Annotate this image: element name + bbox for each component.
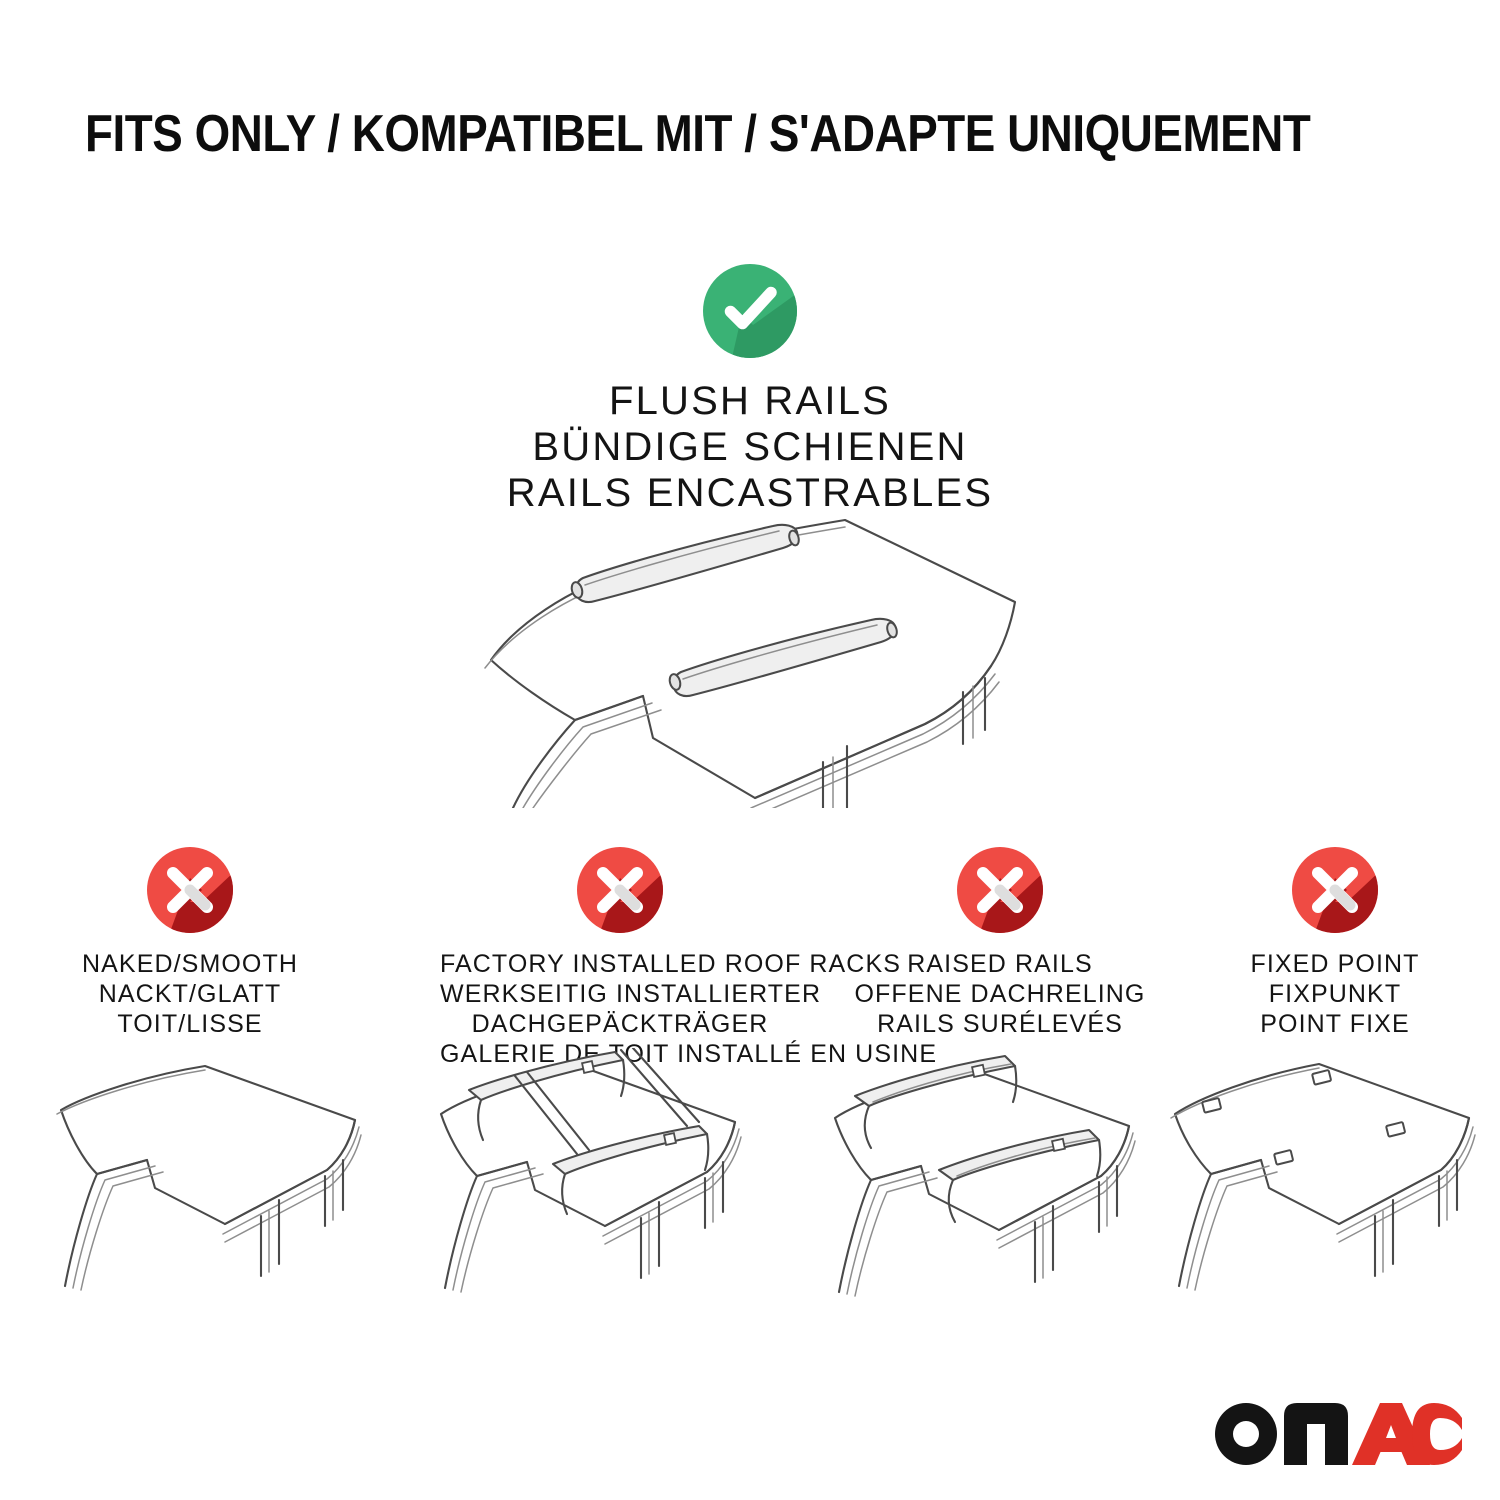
incompatible-label-fr: POINT FIXE	[1155, 1009, 1500, 1039]
incompatible-label-de: FIXPUNKT	[1155, 979, 1500, 1009]
incompatible-label-fr: TOIT/LISSE	[10, 1009, 370, 1039]
incompatible-label-en: RAISED RAILS	[820, 949, 1180, 979]
x-circle-icon	[1290, 845, 1380, 935]
car-roof-factory-installed-roof-racks-illustration	[425, 1048, 825, 1298]
incompatible-label-en: NAKED/SMOOTH	[10, 949, 370, 979]
car-roof-flush-rails-illustration	[455, 498, 1065, 808]
compatible-labels: FLUSH RAILS BÜNDIGE SCHIENEN RAILS ENCAS…	[0, 378, 1500, 516]
omac-logo	[1212, 1394, 1462, 1472]
incompatible-item-raised-rails: RAISED RAILS OFFENE DACHRELING RAILS SUR…	[820, 845, 1180, 1039]
incompatible-item-fixed-point: FIXED POINT FIXPUNKT POINT FIXE	[1155, 845, 1500, 1039]
incompatible-label-de: NACKT/GLATT	[10, 979, 370, 1009]
incompatible-label-de: OFFENE DACHRELING	[820, 979, 1180, 1009]
incompatible-label-fr: RAILS SURÉLEVÉS	[820, 1009, 1180, 1039]
compatible-label-en: FLUSH RAILS	[0, 378, 1500, 424]
incompatible-item-naked-smooth: NAKED/SMOOTH NACKT/GLATT TOIT/LISSE	[10, 845, 370, 1039]
incompatible-label-de-1: WERKSEITIG INSTALLIERTER	[440, 979, 800, 1009]
page-title-text: FITS ONLY / KOMPATIBEL MIT / S'ADAPTE UN…	[85, 104, 1264, 164]
incompatible-label-en: FIXED POINT	[1155, 949, 1500, 979]
incompatible-label-de-2: DACHGEPÄCKTRÄGER	[440, 1009, 800, 1039]
compatible-section: FLUSH RAILS BÜNDIGE SCHIENEN RAILS ENCAS…	[0, 262, 1500, 516]
car-roof-fixed-point-illustration	[1145, 1048, 1500, 1298]
incompatible-labels: FIXED POINT FIXPUNKT POINT FIXE	[1155, 949, 1500, 1039]
car-roof-naked-smooth-illustration	[55, 1048, 455, 1298]
incompatible-label-en: FACTORY INSTALLED ROOF RACKS	[440, 949, 800, 979]
x-circle-icon	[955, 845, 1045, 935]
incompatible-item-factory-roof-racks: FACTORY INSTALLED ROOF RACKS WERKSEITIG …	[440, 845, 800, 1069]
compatible-label-de: BÜNDIGE SCHIENEN	[0, 424, 1500, 470]
check-circle-icon	[701, 262, 799, 360]
incompatible-labels: RAISED RAILS OFFENE DACHRELING RAILS SUR…	[820, 949, 1180, 1039]
page-title: FITS ONLY / KOMPATIBEL MIT / S'ADAPTE UN…	[85, 104, 1425, 166]
x-circle-icon	[145, 845, 235, 935]
incompatible-labels: NAKED/SMOOTH NACKT/GLATT TOIT/LISSE	[10, 949, 370, 1039]
x-circle-icon	[575, 845, 665, 935]
